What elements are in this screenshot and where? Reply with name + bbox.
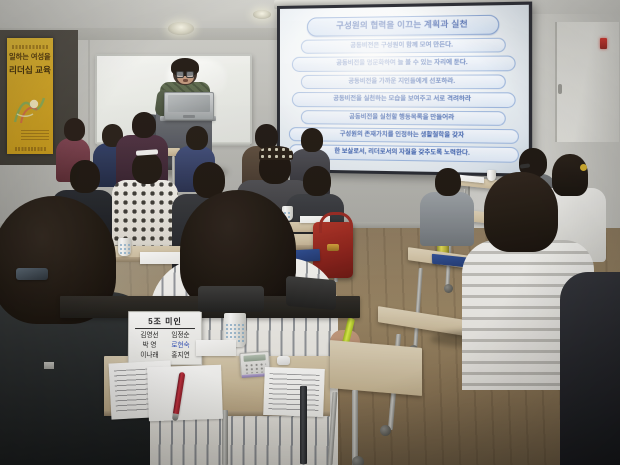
handout: [147, 365, 223, 422]
wall-seam: [88, 40, 90, 160]
wall-banner: 일하는 여성을 위한 리더십 교육: [7, 38, 53, 154]
name-card-names: 김영선 임정순 박 영 로현숙 이나래 홍지연: [134, 331, 196, 361]
name-card-name: 이나래: [134, 353, 165, 360]
door-handle[interactable]: [558, 84, 562, 94]
white-eraser: [277, 356, 290, 365]
slide-bullet: 공동비전을 가까운 지인들에게 선포하라.: [301, 74, 505, 89]
ceiling-light: [168, 22, 194, 35]
laptop-logo: [183, 115, 195, 118]
glasses-lens-left-icon: [176, 71, 184, 78]
paper-cup: [487, 170, 496, 181]
slide-title: 구성원의 협력을 이끄는 계획과 실천: [307, 15, 500, 37]
name-card-title: 5조 미인: [129, 316, 201, 327]
chair: [286, 276, 336, 310]
name-card-rule: [135, 328, 195, 329]
chair-leg: [300, 386, 307, 464]
laptop[interactable]: [164, 92, 214, 120]
classroom-photo: 일하는 여성을 위한 리더십 교육: [0, 0, 620, 465]
slide-bullet: 공동비전을 명문화하여 늘 볼 수 있는 자리에 둔다.: [292, 56, 515, 72]
desk: [330, 340, 422, 396]
calculator-display: [243, 354, 265, 362]
banner-details-text: [21, 130, 49, 142]
name-card-name: 임정순: [165, 333, 196, 340]
desk-caster: [444, 284, 453, 293]
handout-text-lines: [268, 373, 320, 412]
hair-tie: [580, 164, 587, 171]
calculator-keys[interactable]: [244, 362, 267, 374]
name-card-name: 홍지연: [165, 353, 196, 360]
name-card-name: 김영선: [134, 333, 165, 340]
handout: [196, 340, 236, 356]
laptop-screen: [168, 95, 210, 112]
name-card-name: 로현숙: [165, 343, 196, 350]
handout: [263, 367, 325, 417]
red-alarm-light-icon: [600, 38, 607, 49]
banner-line-main: 리더십 교육: [9, 64, 51, 76]
slide-bullet: 구성원의 존재가치를 인정하는 생활철학을 갖자: [289, 127, 519, 144]
banner-line-top: 일하는 여성을 위한: [9, 52, 51, 62]
hair-clip: [16, 268, 48, 280]
presenter-mouth: [183, 79, 188, 82]
banner-footer-text: [15, 147, 47, 151]
banner-subtitle-texture: [12, 45, 48, 49]
chair-caster: [352, 456, 364, 465]
banner-swirl-icon: [11, 84, 49, 124]
patterned-headscarf: [259, 146, 293, 160]
ceiling-light: [253, 10, 271, 19]
glasses-lens-right-icon: [186, 71, 194, 78]
attendee: [560, 272, 620, 465]
slide-bullet: 공동비전을 실천하는 모습을 보여주고 서로 격려하라: [292, 92, 515, 107]
desk-caster: [380, 425, 391, 436]
chair-leg: [352, 390, 358, 465]
group-name-card: 5조 미인 김영선 임정순 박 영 로현숙 이나래 홍지연: [128, 311, 202, 365]
slide-bullet: 공동비전을 실천할 행동목록을 만들어라: [301, 110, 505, 126]
name-card-stand: [44, 362, 54, 369]
slide-bullet: 공동비전은 구성원이 함께 모여 만든다.: [301, 38, 505, 55]
door[interactable]: [555, 22, 619, 142]
name-card-name: 박 영: [134, 343, 165, 350]
chair: [198, 286, 264, 312]
